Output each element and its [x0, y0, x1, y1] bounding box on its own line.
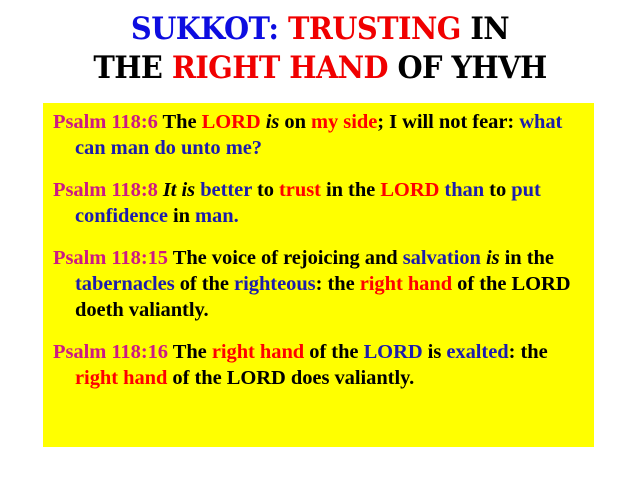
verse-run: It is: [163, 179, 195, 201]
verse-run: in: [168, 205, 195, 227]
verse-run: The: [158, 111, 202, 133]
verse-run: on: [279, 111, 311, 133]
verse-run: is: [486, 247, 500, 269]
verse-reference: Psalm 118:15: [53, 247, 168, 269]
verse-reference: Psalm 118:8: [53, 179, 158, 201]
verse-run: to: [484, 179, 511, 201]
verse-run: exalted: [446, 341, 508, 363]
verse-run: is: [266, 111, 280, 133]
verse-run: LORD: [380, 179, 439, 201]
verse-run: ; I will not fear:: [377, 111, 519, 133]
verse-run: LORD: [202, 111, 261, 133]
verse-run: right hand: [75, 367, 167, 389]
title-word-in: IN: [470, 11, 509, 47]
verse-reference: Psalm 118:16: [53, 341, 168, 363]
verse-run: right hand: [360, 273, 452, 295]
slide-canvas: SUKKOT: TRUSTING IN THE RIGHT HAND OF YH…: [0, 0, 640, 480]
verse-block: Psalm 118:15 The voice of rejoicing and …: [53, 245, 586, 323]
verse-block: Psalm 118:16 The right hand of the LORD …: [53, 339, 586, 391]
verse-run: of the: [175, 273, 234, 295]
title-word-right-hand: RIGHT HAND: [172, 50, 388, 86]
title-word-the: THE: [93, 50, 162, 86]
verse-text: Psalm 118:15 The voice of rejoicing and …: [53, 247, 570, 321]
verse-run: LORD: [364, 341, 423, 363]
verse-run: in the: [500, 247, 554, 269]
verse-run: trust: [279, 179, 321, 201]
scripture-panel: Psalm 118:6 The LORD is on my side; I wi…: [43, 103, 594, 447]
title-word-of-yhvh: OF YHVH: [397, 50, 546, 86]
title-word-sukkot: SUKKOT:: [131, 11, 279, 47]
verse-text: Psalm 118:16 The right hand of the LORD …: [53, 341, 548, 389]
verse-run: in the: [321, 179, 380, 201]
verse-run: right hand: [212, 341, 304, 363]
title-word-trusting: TRUSTING: [288, 11, 461, 47]
verse-run: The: [168, 341, 212, 363]
verse-text: Psalm 118:8 It is better to trust in the…: [53, 179, 541, 227]
verse-run: The voice of rejoicing and: [168, 247, 403, 269]
verse-run: my side: [311, 111, 377, 133]
verse-run: of the LORD does valiantly.: [167, 367, 414, 389]
verse-run: of the: [304, 341, 363, 363]
page-title: SUKKOT: TRUSTING IN THE RIGHT HAND OF YH…: [0, 10, 640, 88]
verse-text: Psalm 118:6 The LORD is on my side; I wi…: [53, 111, 562, 159]
title-line-1: SUKKOT: TRUSTING IN: [22, 10, 617, 49]
verse-reference: Psalm 118:6: [53, 111, 158, 133]
verse-run: righteous: [234, 273, 316, 295]
verse-run: : the: [316, 273, 360, 295]
verse-run: better: [200, 179, 252, 201]
verse-run: : the: [509, 341, 548, 363]
verse-block: Psalm 118:6 The LORD is on my side; I wi…: [53, 109, 586, 161]
title-line-2: THE RIGHT HAND OF YHVH: [22, 49, 617, 88]
verse-run: tabernacles: [75, 273, 175, 295]
verse-run: is: [423, 341, 447, 363]
verse-run: salvation: [403, 247, 481, 269]
verse-run: to: [252, 179, 279, 201]
verse-run: man.: [195, 205, 239, 227]
verse-block: Psalm 118:8 It is better to trust in the…: [53, 177, 586, 229]
verse-run: than: [444, 179, 484, 201]
